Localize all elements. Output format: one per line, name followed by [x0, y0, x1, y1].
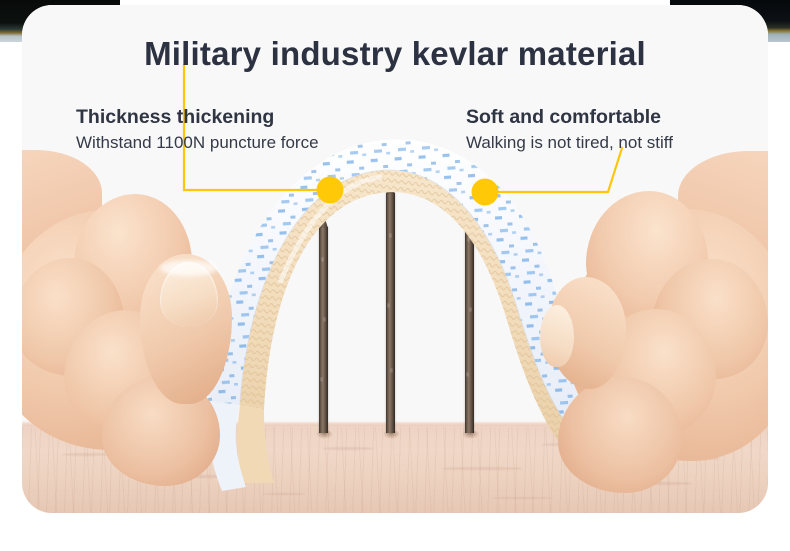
left-hand	[22, 150, 282, 480]
right-hand	[509, 155, 768, 485]
callout-marker-right	[472, 179, 499, 206]
callout-comfort-subtext: Walking is not tired, not stiff	[466, 132, 673, 154]
nail-right	[465, 212, 474, 433]
callout-thickness: Thickness thickening Withstand 1100N pun…	[76, 106, 319, 154]
product-photo	[22, 5, 768, 513]
callout-thickness-heading: Thickness thickening	[76, 106, 319, 130]
callout-marker-left	[317, 177, 344, 204]
page-title: Military industry kevlar material	[22, 35, 768, 73]
callout-thickness-subtext: Withstand 1100N puncture force	[76, 132, 319, 154]
nail-left	[319, 227, 328, 433]
callout-comfort: Soft and comfortable Walking is not tire…	[466, 106, 673, 154]
nail-center	[386, 193, 395, 433]
product-feature-card: Military industry kevlar material Thickn…	[22, 5, 768, 513]
screenshot-frame: Military industry kevlar material Thickn…	[0, 0, 790, 551]
callout-comfort-heading: Soft and comfortable	[466, 106, 673, 130]
